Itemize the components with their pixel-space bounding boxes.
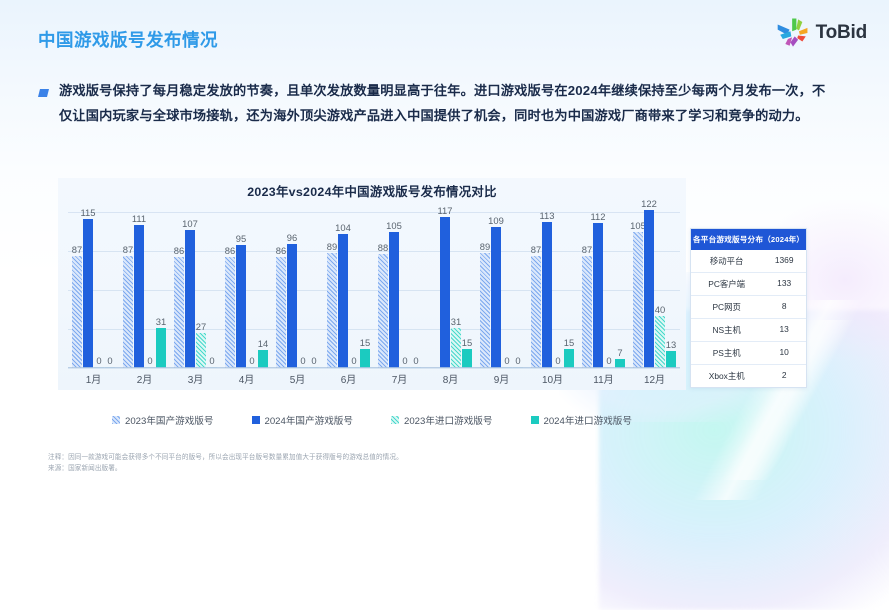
footnote-note: 注释：因同一款游戏可能会获得多个不同平台的版号，所以会出现平台版号数量累加值大于… — [48, 452, 403, 463]
bar-value-label: 0 — [96, 355, 101, 366]
bar-value-label: 111 — [132, 213, 146, 224]
bar-value-label: 89 — [327, 241, 337, 252]
month-axis-label: 11月 — [578, 371, 629, 386]
bar-1[interactable]: 86 — [174, 257, 184, 368]
month-group: 89109009月 — [476, 212, 527, 368]
legend-swatch — [252, 416, 260, 424]
table-cell-platform: 移动平台 — [691, 250, 762, 272]
bar-2[interactable]: 112 — [593, 223, 603, 368]
bar-cluster: 8910900 — [480, 212, 523, 368]
bar-value-label: 105 — [386, 220, 402, 231]
slide: 中国游戏版号发布情况 ToBid 游戏版号保持了每月稳定发放的节奏，且单次发放数… — [0, 0, 889, 500]
bar-value-label: 87 — [72, 244, 82, 255]
bar-value-label: 0 — [209, 355, 214, 366]
month-axis-label: 10月 — [527, 371, 578, 386]
bar-value-label: 95 — [236, 233, 246, 244]
bar-value-label: 0 — [402, 355, 407, 366]
bar-1[interactable]: 86 — [276, 257, 286, 368]
bar-value-label: 14 — [258, 338, 268, 349]
chart-title: 2023年vs2024年中国游戏版号发布情况对比 — [58, 182, 686, 200]
month-axis-label: 3月 — [170, 371, 221, 386]
bar-1[interactable]: 86 — [225, 257, 235, 368]
bar-value-label: 87 — [531, 244, 541, 255]
table-row: PS主机10 — [691, 341, 806, 364]
table-cell-count: 1369 — [762, 250, 806, 272]
bar-2[interactable]: 111 — [134, 225, 144, 368]
bar-cluster: 8711500 — [72, 212, 115, 368]
month-group: 8711301510月 — [527, 212, 578, 368]
month-group: 8696005月 — [272, 212, 323, 368]
bar-2[interactable]: 109 — [491, 227, 501, 368]
legend-swatch — [391, 416, 399, 424]
table-row: PC客户端133 — [691, 272, 806, 295]
bar-value-label: 15 — [360, 337, 370, 348]
table-cell-platform: NS主机 — [691, 319, 762, 341]
bar-1[interactable]: 87 — [123, 256, 133, 368]
bar-cluster: 87111031 — [123, 212, 166, 368]
bar-4[interactable]: 31 — [156, 328, 166, 368]
bar-value-label: 0 — [351, 355, 356, 366]
bar-value-label: 0 — [300, 355, 305, 366]
legend-item[interactable]: 2023年进口游戏版号 — [391, 413, 493, 427]
bar-4[interactable]: 15 — [360, 349, 370, 368]
bar-value-label: 122 — [641, 198, 657, 209]
bar-value-label: 0 — [504, 355, 509, 366]
legend-item[interactable]: 2024年国产游戏版号 — [252, 413, 354, 427]
legend-label: 2023年国产游戏版号 — [125, 413, 214, 427]
bar-1[interactable]: 87 — [72, 256, 82, 368]
bar-value-label: 89 — [480, 241, 490, 252]
bar-4[interactable]: 15 — [564, 349, 574, 368]
month-group: 861072703月 — [170, 212, 221, 368]
table-cell-platform: PC网页 — [691, 296, 762, 318]
bar-value-label: 115 — [81, 207, 96, 218]
bar-2[interactable]: 117 — [440, 217, 450, 368]
month-axis-label: 8月 — [425, 371, 476, 386]
table-cell-count: 2 — [762, 365, 806, 387]
bar-1[interactable]: 88 — [378, 254, 388, 368]
table-row: 移动平台1369 — [691, 250, 806, 272]
bar-cluster: 1051224013 — [633, 212, 676, 368]
bar-cluster: 8711207 — [582, 212, 625, 368]
footnote-source: 来源：国家新闻出版署。 — [48, 463, 403, 474]
bar-value-label: 31 — [451, 316, 461, 327]
legend-label: 2024年国产游戏版号 — [265, 413, 354, 427]
table-row: Xbox主机2 — [691, 364, 806, 387]
table-row: NS主机13 — [691, 318, 806, 341]
bar-value-label: 13 — [666, 339, 676, 350]
month-axis-label: 1月 — [68, 371, 119, 386]
lead-text: 游戏版号保持了每月稳定发放的节奏，且单次发放数量明显高于往年。进口游戏版号在20… — [59, 78, 829, 128]
chart-panel: 2023年vs2024年中国游戏版号发布情况对比 87115001月871110… — [58, 178, 686, 390]
bar-value-label: 109 — [488, 215, 504, 226]
bar-value-label: 107 — [182, 218, 198, 229]
bar-2[interactable]: 107 — [185, 230, 195, 368]
bar-2[interactable]: 104 — [338, 234, 348, 368]
bar-2[interactable]: 96 — [287, 244, 297, 368]
bar-value-label: 88 — [378, 242, 388, 253]
month-axis-label: 12月 — [629, 371, 680, 386]
bar-cluster: 86107270 — [174, 212, 217, 368]
bar-cluster: 89104015 — [327, 212, 370, 368]
bar-3[interactable]: 31 — [451, 328, 461, 368]
bar-value-label: 0 — [311, 355, 316, 366]
bar-value-label: 40 — [655, 304, 665, 315]
chart-axis-baseline — [68, 367, 680, 368]
table-cell-platform: Xbox主机 — [691, 365, 762, 387]
bar-value-label: 27 — [196, 321, 206, 332]
bar-1[interactable]: 89 — [480, 253, 490, 368]
gridline — [68, 368, 680, 369]
bar-2[interactable]: 113 — [542, 222, 552, 368]
table-cell-platform: PC客户端 — [691, 273, 762, 295]
bar-value-label: 113 — [540, 210, 555, 221]
bar-1[interactable]: 105 — [633, 232, 643, 368]
platform-distribution-table: 各平台游戏版号分布（2024年） 移动平台1369PC客户端133PC网页8NS… — [690, 228, 807, 388]
bar-value-label: 104 — [335, 222, 351, 233]
bar-3[interactable]: 40 — [655, 316, 665, 368]
month-group: 105122401312月 — [629, 212, 680, 368]
bar-value-label: 86 — [276, 245, 286, 256]
legend-item[interactable]: 2023年国产游戏版号 — [112, 413, 214, 427]
bar-value-label: 0 — [249, 355, 254, 366]
bar-value-label: 87 — [123, 244, 133, 255]
legend-swatch — [531, 416, 539, 424]
table-cell-platform: PS主机 — [691, 342, 762, 364]
month-axis-label: 9月 — [476, 371, 527, 386]
month-axis-label: 4月 — [221, 371, 272, 386]
table-cell-count: 133 — [762, 273, 806, 295]
bar-value-label: 15 — [462, 337, 472, 348]
bar-cluster: 8695014 — [225, 212, 268, 368]
legend-label: 2024年进口游戏版号 — [544, 413, 633, 427]
bar-value-label: 0 — [107, 355, 112, 366]
legend-swatch — [112, 416, 120, 424]
bar-1[interactable]: 89 — [327, 253, 337, 368]
bar-cluster: 87113015 — [531, 212, 574, 368]
bar-value-label: 31 — [156, 316, 166, 327]
chart-plot-area: 87115001月871110312月861072703月86950144月86… — [68, 212, 680, 368]
bar-value-label: 117 — [438, 205, 453, 216]
bar-4[interactable]: 15 — [462, 349, 472, 368]
footnotes: 注释：因同一款游戏可能会获得多个不同平台的版号，所以会出现平台版号数量累加值大于… — [48, 452, 403, 474]
month-group: 891040156月 — [323, 212, 374, 368]
bar-3[interactable]: 27 — [196, 333, 206, 368]
bar-1[interactable]: 87 — [582, 256, 592, 368]
tobid-pinwheel-logo-icon — [776, 16, 810, 50]
month-axis-label: 6月 — [323, 371, 374, 386]
bar-2[interactable]: 115 — [83, 219, 93, 368]
bar-cluster: 1173115 — [429, 212, 472, 368]
month-group: 871120711月 — [578, 212, 629, 368]
bar-value-label: 86 — [225, 245, 235, 256]
logo-text: ToBid — [816, 22, 867, 44]
parallelogram-bullet-icon — [38, 84, 49, 128]
bar-value-label: 87 — [582, 244, 592, 255]
bar-value-label: 112 — [591, 211, 606, 222]
table-cell-count: 10 — [762, 342, 806, 364]
month-group: 87115001月 — [68, 212, 119, 368]
legend-item[interactable]: 2024年进口游戏版号 — [531, 413, 633, 427]
month-axis-label: 2月 — [119, 371, 170, 386]
page-title: 中国游戏版号发布情况 — [38, 27, 218, 52]
bar-value-label: 15 — [564, 337, 574, 348]
bar-value-label: 0 — [413, 355, 418, 366]
bar-value-label: 0 — [147, 355, 152, 366]
brand-logo: ToBid — [776, 16, 867, 50]
bar-4[interactable]: 13 — [666, 351, 676, 368]
table-cell-count: 8 — [762, 296, 806, 318]
lead-paragraph: 游戏版号保持了每月稳定发放的节奏，且单次发放数量明显高于往年。进口游戏版号在20… — [38, 78, 829, 128]
bar-value-label: 0 — [515, 355, 520, 366]
table-cell-count: 13 — [762, 319, 806, 341]
table-body: 移动平台1369PC客户端133PC网页8NS主机13PS主机10Xbox主机2 — [691, 250, 806, 387]
month-axis-label: 5月 — [272, 371, 323, 386]
month-group: 11731158月 — [425, 212, 476, 368]
month-group: 86950144月 — [221, 212, 272, 368]
table-row: PC网页8 — [691, 295, 806, 318]
bar-1[interactable]: 87 — [531, 256, 541, 368]
header: 中国游戏版号发布情况 ToBid — [0, 0, 889, 64]
bar-value-label: 96 — [287, 232, 297, 243]
bar-value-label: 0 — [606, 355, 611, 366]
legend-label: 2023年进口游戏版号 — [404, 413, 493, 427]
bar-2[interactable]: 95 — [236, 245, 246, 368]
bar-4[interactable]: 14 — [258, 350, 268, 368]
month-axis-label: 7月 — [374, 371, 425, 386]
bar-value-label: 86 — [174, 245, 184, 256]
bar-cluster: 869600 — [276, 212, 319, 368]
month-group: 88105007月 — [374, 212, 425, 368]
bar-2[interactable]: 122 — [644, 210, 654, 368]
bar-value-label: 7 — [617, 347, 622, 358]
month-group: 871110312月 — [119, 212, 170, 368]
bar-value-label: 0 — [555, 355, 560, 366]
chart-legend: 2023年国产游戏版号2024年国产游戏版号2023年进口游戏版号2024年进口… — [58, 413, 686, 427]
table-title: 各平台游戏版号分布（2024年） — [691, 229, 806, 250]
bar-2[interactable]: 105 — [389, 232, 399, 368]
bar-cluster: 8810500 — [378, 212, 421, 368]
